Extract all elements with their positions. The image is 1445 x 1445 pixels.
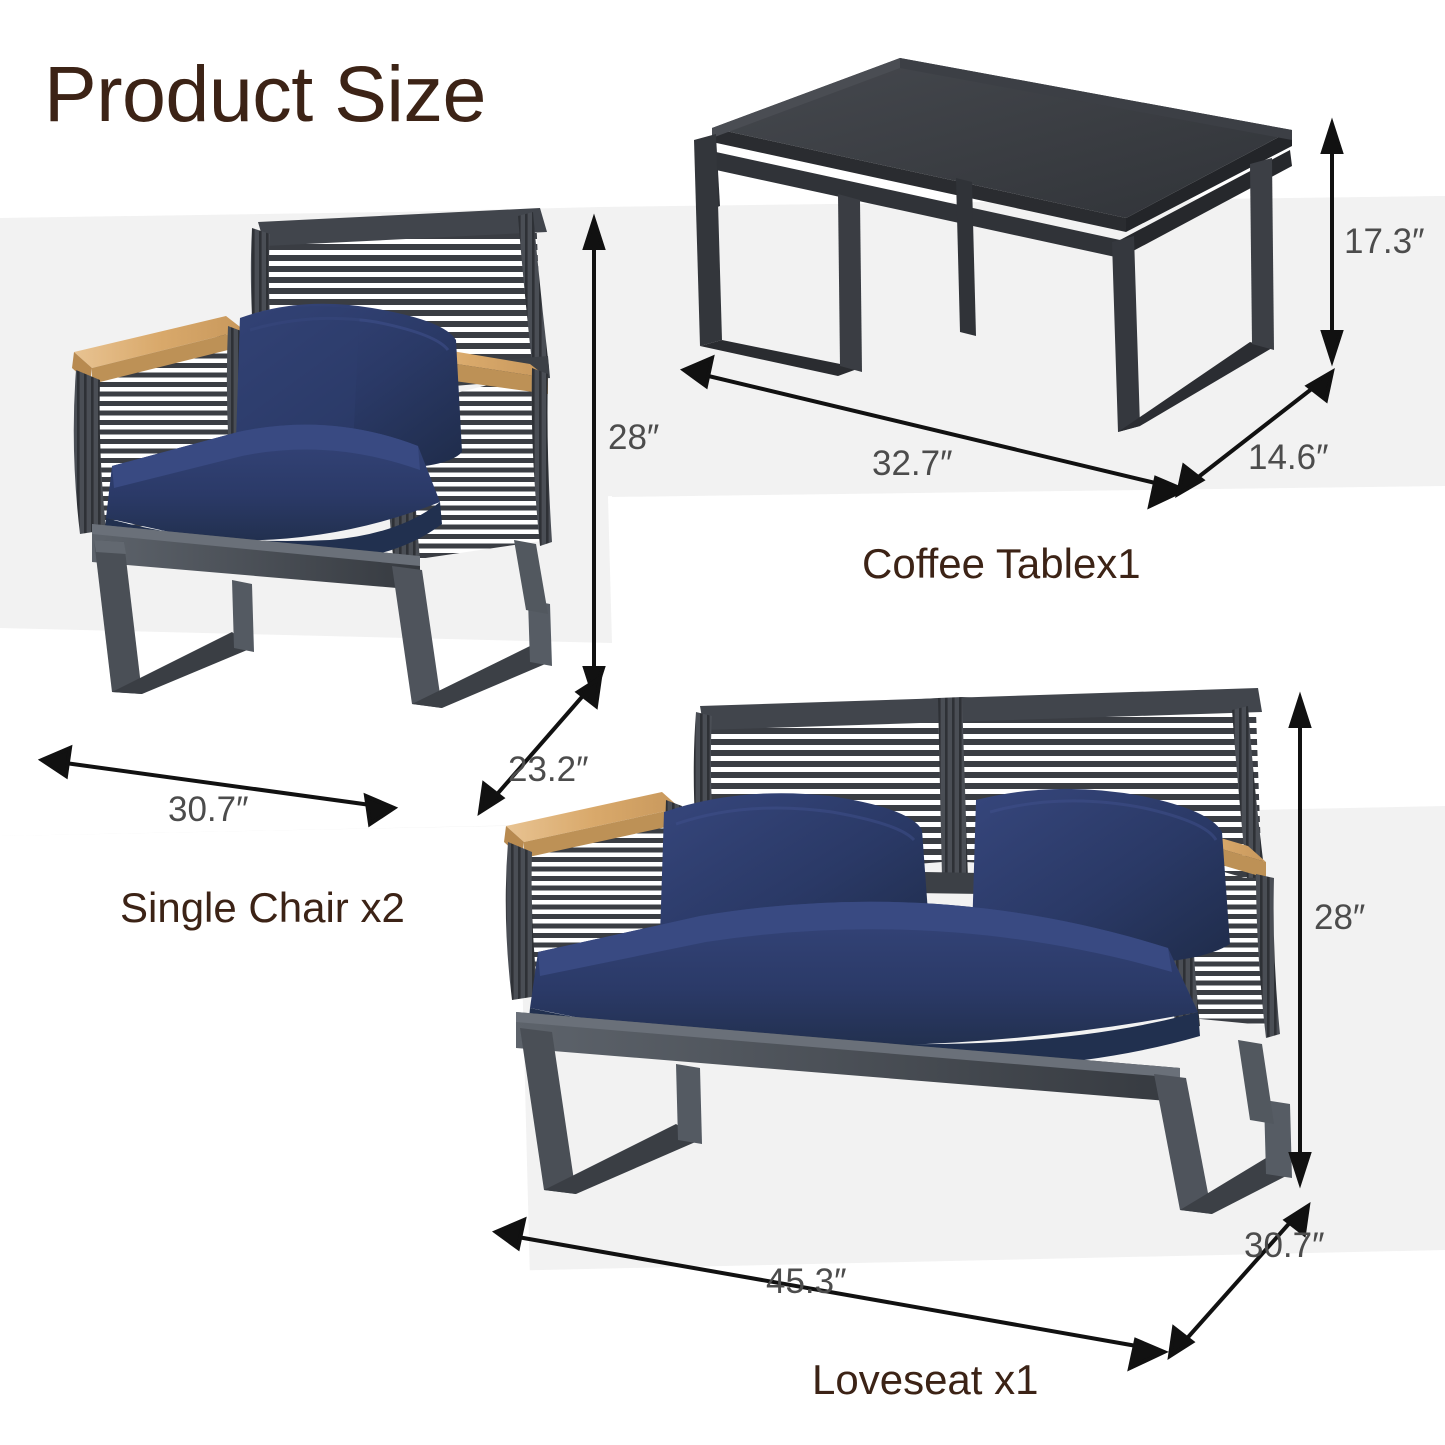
product-size-infographic: Product Size [0, 0, 1445, 1445]
page-title: Product Size [44, 48, 486, 140]
loveseat-width-label: 45.3″ [766, 1262, 847, 1302]
table-width-label: 32.7″ [872, 444, 953, 484]
table-depth-label: 14.6″ [1248, 438, 1329, 478]
chair-height-label: 28″ [608, 418, 659, 458]
coffee-table-caption: Coffee Tablex1 [862, 540, 1141, 588]
single-chair-dimension-arrows [0, 0, 1445, 1445]
background-bands [0, 0, 1445, 1445]
coffee-table-dimension-arrows [0, 0, 1445, 1445]
loveseat-caption: Loveseat x1 [812, 1356, 1039, 1404]
loveseat-dimension-arrows [0, 0, 1445, 1445]
chair-width-label: 30.7″ [168, 790, 249, 830]
chair-depth-label: 23.2″ [508, 750, 589, 790]
single-chair-illustration [0, 0, 1445, 1445]
loveseat-height-label: 28″ [1314, 898, 1365, 938]
coffee-table-illustration [0, 0, 1445, 1445]
table-height-label: 17.3″ [1344, 222, 1425, 262]
single-chair-caption: Single Chair x2 [120, 884, 405, 932]
loveseat-depth-label: 30.7″ [1244, 1226, 1325, 1266]
loveseat-illustration [0, 0, 1445, 1445]
